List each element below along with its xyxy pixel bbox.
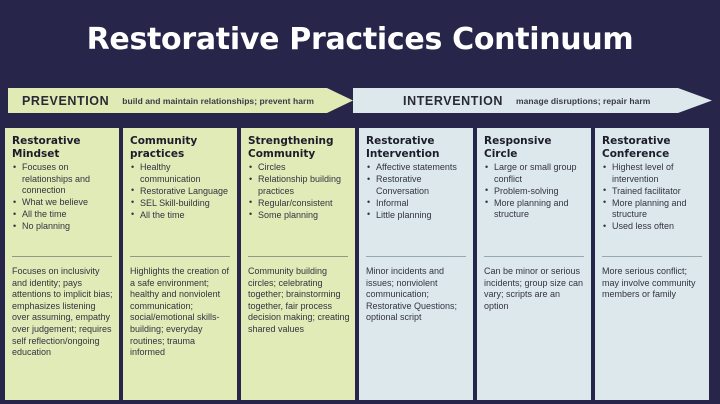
card-bullet-item: Problem-solving bbox=[484, 186, 584, 198]
card-bullet-list: Healthy communicationRestorative Languag… bbox=[130, 162, 230, 221]
card-description: Focuses on inclusivity and identity; pay… bbox=[12, 266, 114, 359]
card-divider bbox=[366, 256, 466, 257]
card-bullet-item: No planning bbox=[12, 221, 112, 233]
intervention-arrow-body: INTERVENTION manage disruptions; repair … bbox=[353, 88, 678, 113]
continuum-card: Restorative MindsetFocuses on relationsh… bbox=[5, 128, 119, 400]
continuum-arrow-banner: PREVENTION build and maintain relationsh… bbox=[8, 88, 712, 113]
card-title: Community practices bbox=[130, 135, 230, 160]
card-bullet-item: Restorative Language bbox=[130, 186, 230, 198]
card-title: Strengthening Community bbox=[248, 135, 348, 160]
card-bullet-item: Little planning bbox=[366, 210, 466, 222]
card-title: Responsive Circle bbox=[484, 135, 584, 160]
continuum-card: Restorative ConferenceHighest level of i… bbox=[595, 128, 709, 400]
restorative-practices-continuum-infographic: Restorative Practices Continuum PREVENTI… bbox=[0, 0, 720, 404]
card-description: Minor incidents and issues; nonviolent c… bbox=[366, 266, 468, 324]
card-divider bbox=[602, 256, 702, 257]
card-bullet-item: Circles bbox=[248, 162, 348, 174]
card-title: Restorative Mindset bbox=[12, 135, 112, 160]
card-bullet-list: Large or small group conflictProblem-sol… bbox=[484, 162, 584, 221]
card-bullet-item: Trained facilitator bbox=[602, 186, 702, 198]
card-bullet-list: Focuses on relationships and connectionW… bbox=[12, 162, 112, 233]
card-bullet-item: All the time bbox=[130, 210, 230, 222]
continuum-columns: Restorative MindsetFocuses on relationsh… bbox=[5, 128, 715, 400]
card-bullet-item: All the time bbox=[12, 209, 112, 221]
prevention-subtitle: build and maintain relationships; preven… bbox=[122, 96, 314, 106]
card-bullet-list: Highest level of interventionTrained fac… bbox=[602, 162, 702, 233]
intervention-subtitle: manage disruptions; repair harm bbox=[516, 96, 650, 106]
card-divider bbox=[12, 256, 112, 257]
card-description: Can be minor or serious incidents; group… bbox=[484, 266, 586, 312]
card-bullet-item: Affective statements bbox=[366, 162, 466, 174]
card-divider bbox=[130, 256, 230, 257]
card-bullet-item: Used less often bbox=[602, 221, 702, 233]
intervention-label: INTERVENTION bbox=[403, 94, 503, 108]
card-description: Community building circles; celebrating … bbox=[248, 266, 350, 336]
card-bullet-item: Regular/consistent bbox=[248, 198, 348, 210]
card-divider bbox=[248, 256, 348, 257]
continuum-card: Strengthening CommunityCirclesRelationsh… bbox=[241, 128, 355, 400]
card-bullet-item: Large or small group conflict bbox=[484, 162, 584, 185]
prevention-arrow-body: PREVENTION build and maintain relationsh… bbox=[8, 88, 327, 113]
prevention-arrow-tip-icon bbox=[327, 88, 353, 113]
continuum-card: Responsive CircleLarge or small group co… bbox=[477, 128, 591, 400]
page-title: Restorative Practices Continuum bbox=[0, 22, 720, 57]
card-bullet-item: More planning and structure bbox=[484, 198, 584, 221]
continuum-card: Community practicesHealthy communication… bbox=[123, 128, 237, 400]
card-bullet-item: SEL Skill-building bbox=[130, 198, 230, 210]
card-bullet-list: CirclesRelationship building practicesRe… bbox=[248, 162, 348, 221]
card-title: Restorative Conference bbox=[602, 135, 702, 160]
card-description: More serious conflict; may involve commu… bbox=[602, 266, 704, 301]
card-bullet-item: Highest level of intervention bbox=[602, 162, 702, 185]
prevention-arrow: PREVENTION build and maintain relationsh… bbox=[8, 88, 353, 113]
card-bullet-item: Some planning bbox=[248, 210, 348, 222]
continuum-card: Restorative InterventionAffective statem… bbox=[359, 128, 473, 400]
intervention-arrow: INTERVENTION manage disruptions; repair … bbox=[353, 88, 712, 113]
card-bullet-item: Focuses on relationships and connection bbox=[12, 162, 112, 197]
prevention-label: PREVENTION bbox=[22, 94, 109, 108]
card-bullet-item: Informal bbox=[366, 198, 466, 210]
intervention-arrow-tip-icon bbox=[678, 88, 712, 113]
card-title: Restorative Intervention bbox=[366, 135, 466, 160]
card-bullet-item: Relationship building practices bbox=[248, 174, 348, 197]
card-bullet-item: More planning and structure bbox=[602, 198, 702, 221]
card-bullet-item: What we believe bbox=[12, 197, 112, 209]
card-divider bbox=[484, 256, 584, 257]
card-bullet-list: Affective statementsRestorative Conversa… bbox=[366, 162, 466, 221]
card-description: Highlights the creation of a safe enviro… bbox=[130, 266, 232, 359]
card-bullet-item: Restorative Conversation bbox=[366, 174, 466, 197]
card-bullet-item: Healthy communication bbox=[130, 162, 230, 185]
